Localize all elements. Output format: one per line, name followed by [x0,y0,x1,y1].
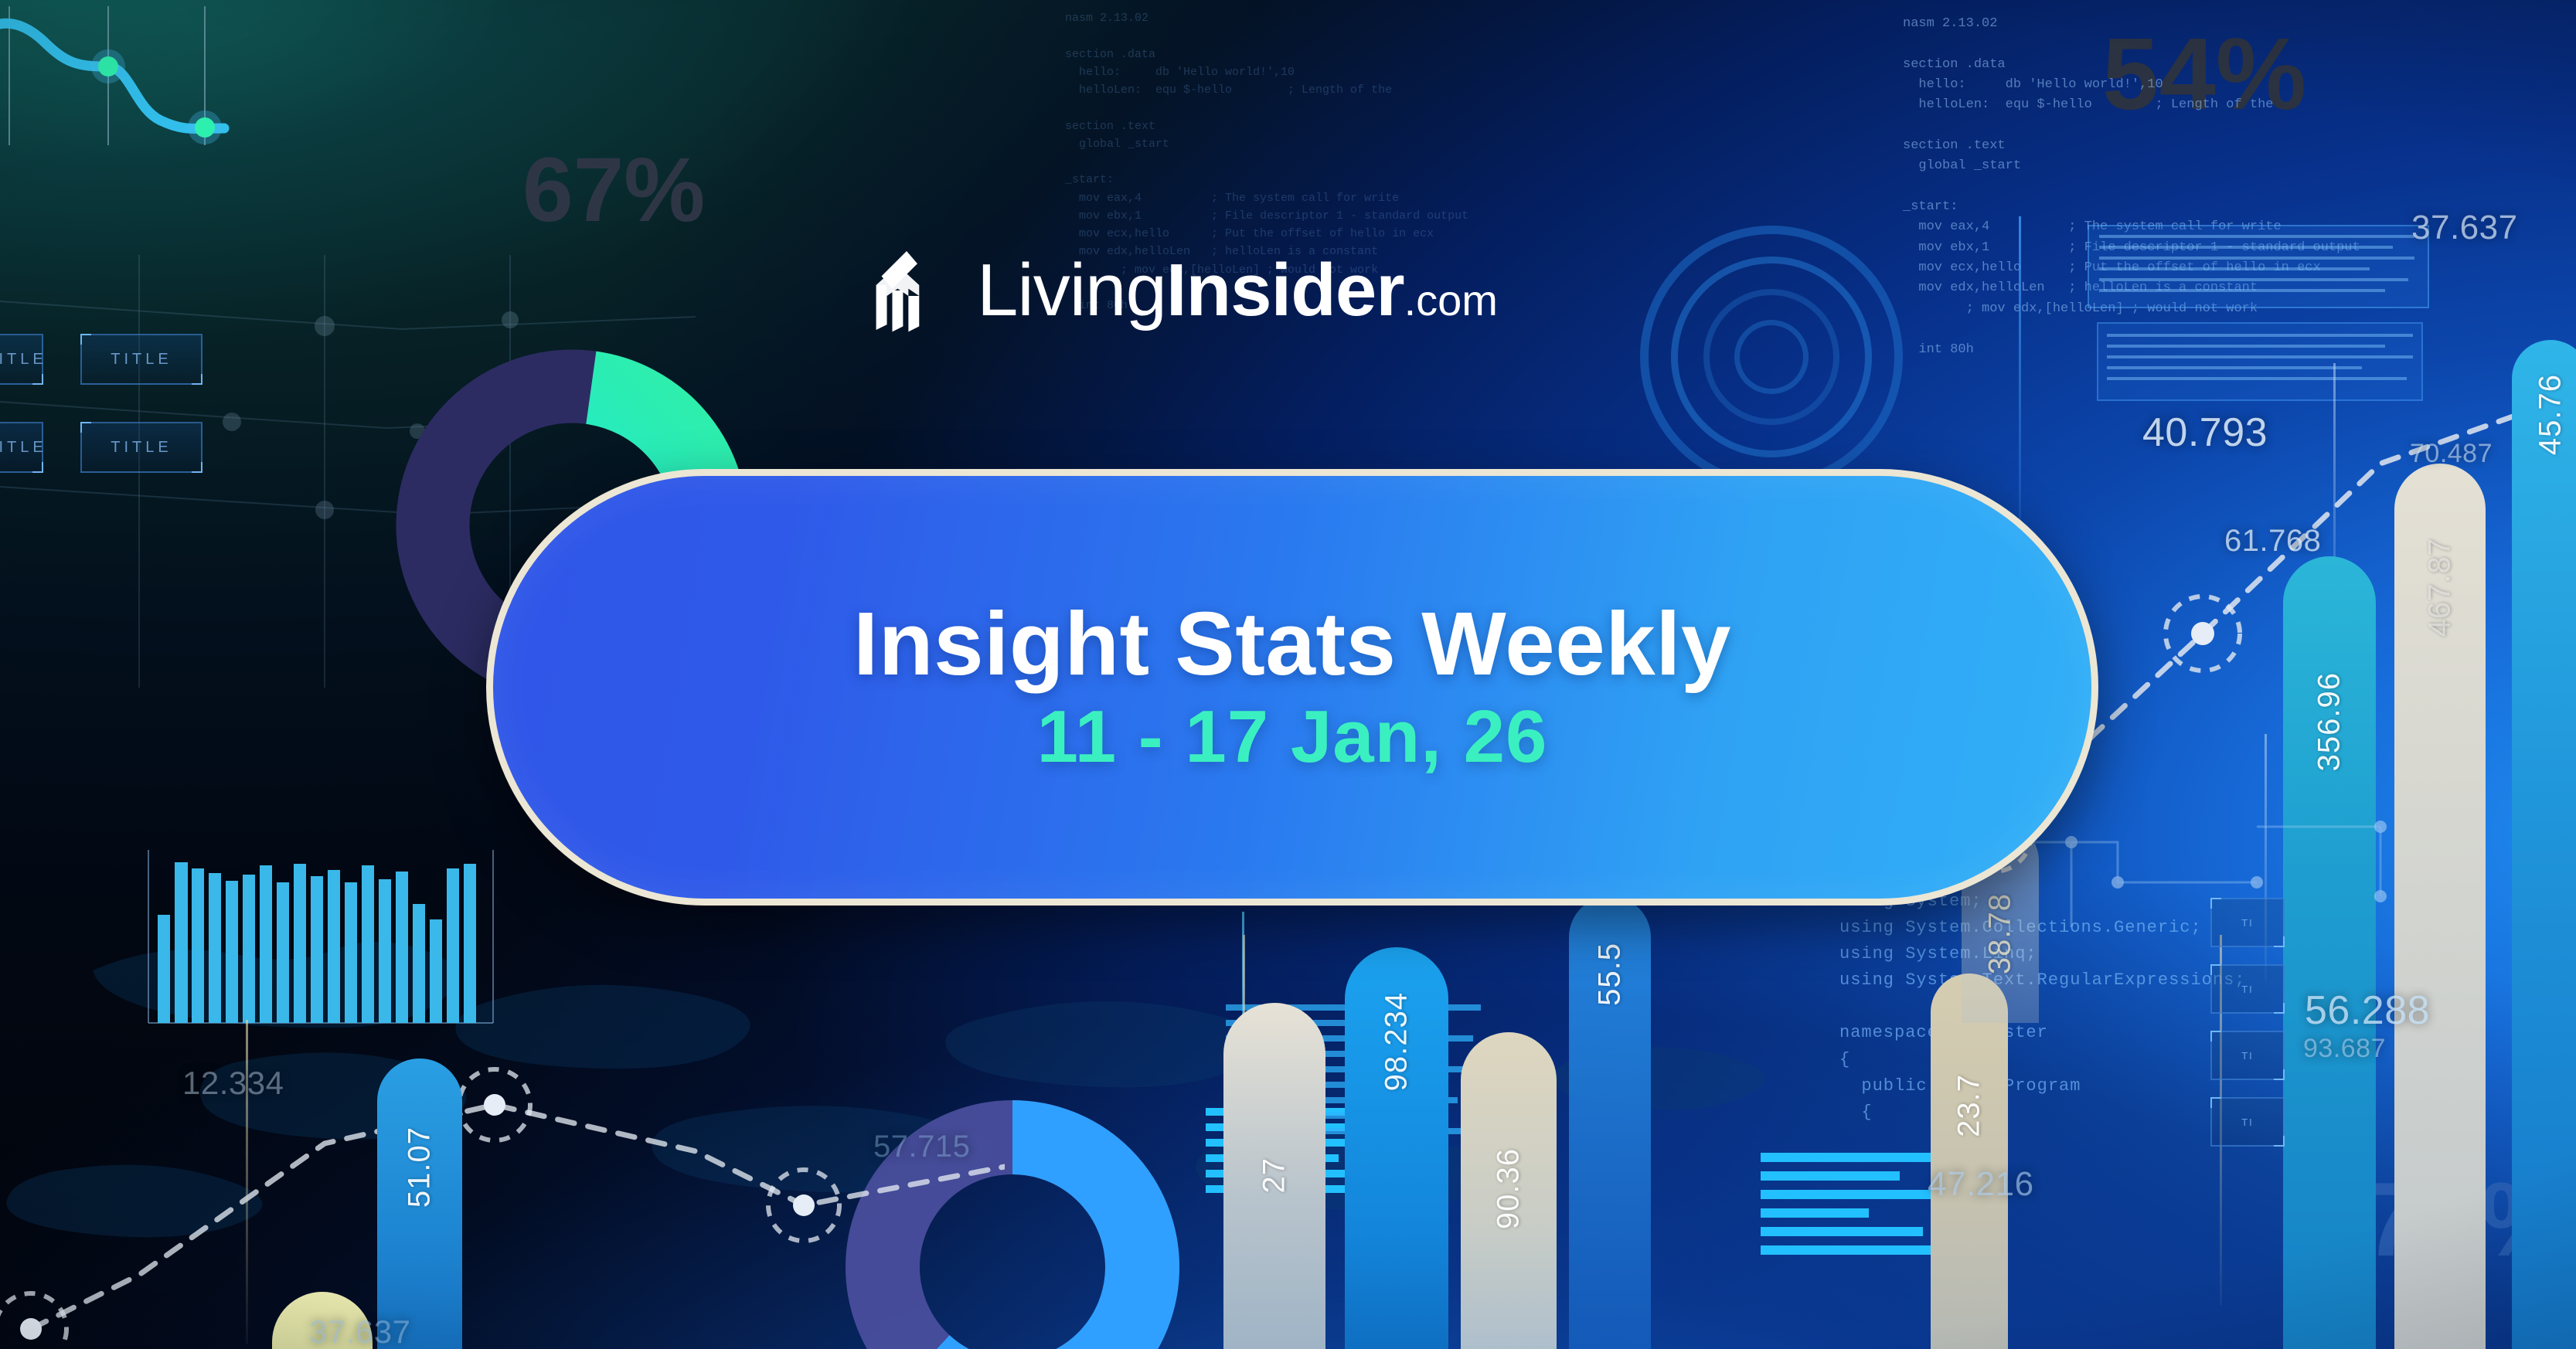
banner-pill[interactable]: Insight Stats Weekly 11 - 17 Jan, 26 [486,469,2098,906]
house-building-logo-icon [867,246,957,335]
banner-title: Insight Stats Weekly [853,597,1731,691]
brand-name-bold: Insider [1166,249,1404,331]
brand-logo-text: LivingInsider.com [977,253,1498,328]
brand-tld: .com [1404,276,1498,325]
brand-name-light: Living [977,249,1166,331]
banner-date-range: 11 - 17 Jan, 26 [1037,696,1548,778]
brand-logo[interactable]: LivingInsider.com [867,246,1498,335]
poster-canvas: TITLE TITLE TITLE TITLE 67% 54% 71% nasm… [0,0,2576,1349]
